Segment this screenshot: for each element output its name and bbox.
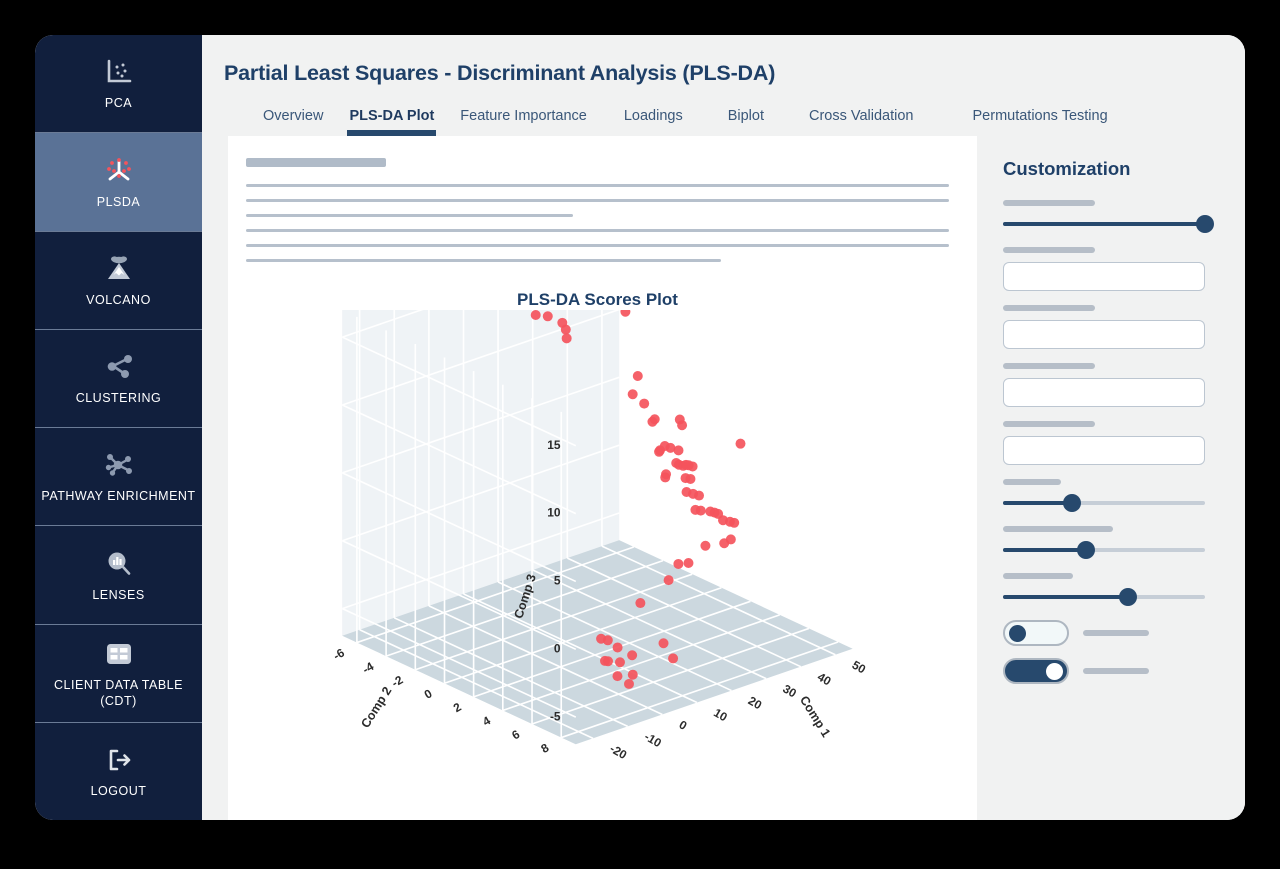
tab-biplot[interactable]: Biplot xyxy=(696,108,777,136)
control-label-skeleton xyxy=(1003,305,1095,311)
svg-text:-20: -20 xyxy=(607,741,629,762)
toggle-switch-1[interactable] xyxy=(1003,620,1069,646)
slider-fill xyxy=(1003,595,1128,599)
slider-4[interactable] xyxy=(1003,588,1205,606)
sidebar-item-plsda[interactable]: PLSDA xyxy=(35,133,202,231)
svg-text:10: 10 xyxy=(711,705,730,724)
slider-thumb[interactable] xyxy=(1077,541,1095,559)
sidebar-item-clustering[interactable]: CLUSTERING xyxy=(35,330,202,428)
svg-text:-6: -6 xyxy=(331,645,348,663)
toggle-row-2 xyxy=(1003,658,1205,684)
svg-text:2: 2 xyxy=(451,699,464,715)
toggle-switch-2[interactable] xyxy=(1003,658,1069,684)
skeleton-line xyxy=(246,244,949,247)
text-input-1[interactable] xyxy=(1003,262,1205,291)
customization-panel: Customization xyxy=(977,136,1245,820)
control-group-textbox-3 xyxy=(1003,363,1205,407)
main-area: Partial Least Squares - Discriminant Ana… xyxy=(202,35,1245,820)
tab-pls-da-plot[interactable]: PLS-DA Plot xyxy=(336,108,447,136)
svg-text:-5: -5 xyxy=(550,709,561,723)
control-label-skeleton xyxy=(1003,479,1061,485)
svg-text:0: 0 xyxy=(422,686,435,702)
sidebar-item-label: PCA xyxy=(105,96,132,112)
svg-text:0: 0 xyxy=(677,717,690,733)
svg-text:0: 0 xyxy=(554,641,561,655)
customization-title: Customization xyxy=(1003,158,1205,180)
tab-feature-importance[interactable]: Feature Importance xyxy=(447,108,600,136)
svg-text:-10: -10 xyxy=(642,729,664,750)
toggle-knob xyxy=(1009,625,1026,642)
sidebar-item-lenses[interactable]: LENSES xyxy=(35,526,202,624)
svg-text:30: 30 xyxy=(780,681,799,700)
sidebar-item-pathway-enrichment[interactable]: PATHWAY ENRICHMENT xyxy=(35,428,202,526)
logout-arrow-icon xyxy=(102,743,136,777)
skeleton-line xyxy=(246,199,949,202)
control-label-skeleton xyxy=(1003,573,1073,579)
plot-canvas[interactable]: -5051015-6-4-202468-20-1001020304050Comp… xyxy=(246,310,949,820)
skeleton-line xyxy=(246,184,949,187)
table-grid-icon xyxy=(102,637,136,671)
scores-plot-3d[interactable]: -5051015-6-4-202468-20-1001020304050Comp… xyxy=(246,310,949,820)
tab-loadings[interactable]: Loadings xyxy=(600,108,696,136)
tab-overview[interactable]: Overview xyxy=(250,108,336,136)
sidebar-item-label: CLIENT DATA TABLE (CDT) xyxy=(41,678,196,709)
toggle-label-skeleton xyxy=(1083,668,1149,674)
plot-panel: PLS-DA Scores Plot -5051015-6-4-202468-2… xyxy=(228,136,977,820)
control-group-textbox-1 xyxy=(1003,247,1205,291)
svg-text:Comp 1: Comp 1 xyxy=(797,693,833,739)
sidebar-item-label: CLUSTERING xyxy=(76,391,162,407)
svg-text:4: 4 xyxy=(480,713,493,729)
skeleton-line xyxy=(246,259,721,262)
svg-text:8: 8 xyxy=(539,740,552,756)
sidebar-item-label: PLSDA xyxy=(97,195,141,211)
sidebar-item-label: VOLCANO xyxy=(86,293,151,309)
plot-title: PLS-DA Scores Plot xyxy=(246,290,949,310)
skeleton-line xyxy=(246,214,573,217)
control-label-skeleton xyxy=(1003,247,1095,253)
magnifier-bars-icon xyxy=(102,547,136,581)
scatter-axes-icon xyxy=(102,55,136,89)
tab-bar: Overview PLS-DA Plot Feature Importance … xyxy=(224,102,1245,136)
toggle-row-1 xyxy=(1003,620,1205,646)
svg-text:50: 50 xyxy=(850,657,869,676)
slider-3[interactable] xyxy=(1003,541,1205,559)
slider-fill xyxy=(1003,501,1072,505)
svg-text:20: 20 xyxy=(746,693,765,712)
text-input-4[interactable] xyxy=(1003,436,1205,465)
page-title: Partial Least Squares - Discriminant Ana… xyxy=(224,61,1245,86)
toggle-knob xyxy=(1046,663,1063,680)
svg-text:Comp 2: Comp 2 xyxy=(358,684,394,730)
svg-text:6: 6 xyxy=(509,727,522,743)
slider-1[interactable] xyxy=(1003,215,1205,233)
slider-thumb[interactable] xyxy=(1119,588,1137,606)
slider-thumb[interactable] xyxy=(1196,215,1214,233)
control-label-skeleton xyxy=(1003,363,1095,369)
control-group-slider-3 xyxy=(1003,526,1205,559)
control-group-slider-2 xyxy=(1003,479,1205,512)
control-label-skeleton xyxy=(1003,421,1095,427)
app-window: PCA PLSDA xyxy=(35,35,1245,820)
slider-thumb[interactable] xyxy=(1063,494,1081,512)
molecule-hub-icon xyxy=(102,448,136,482)
slider-fill xyxy=(1003,548,1086,552)
sidebar-item-label: LOGOUT xyxy=(91,784,147,800)
sidebar-item-logout[interactable]: LOGOUT xyxy=(35,723,202,820)
sidebar-item-label: PATHWAY ENRICHMENT xyxy=(41,489,195,505)
text-input-3[interactable] xyxy=(1003,378,1205,407)
control-group-slider-1 xyxy=(1003,200,1205,233)
svg-text:-2: -2 xyxy=(389,672,406,690)
content-wrap: PLS-DA Scores Plot -5051015-6-4-202468-2… xyxy=(202,136,1245,820)
sidebar-item-pca[interactable]: PCA xyxy=(35,35,202,133)
text-input-2[interactable] xyxy=(1003,320,1205,349)
svg-text:10: 10 xyxy=(547,505,561,519)
sidebar-item-client-data-table[interactable]: CLIENT DATA TABLE (CDT) xyxy=(35,625,202,723)
skeleton-heading xyxy=(246,158,386,167)
svg-text:-4: -4 xyxy=(360,659,377,677)
sidebar-item-label: LENSES xyxy=(92,588,144,604)
three-axis-star-icon xyxy=(102,154,136,188)
svg-text:40: 40 xyxy=(815,669,834,688)
svg-text:15: 15 xyxy=(547,438,561,452)
network-nodes-icon xyxy=(102,350,136,384)
toggle-label-skeleton xyxy=(1083,630,1149,636)
header: Partial Least Squares - Discriminant Ana… xyxy=(202,35,1245,136)
tab-permutations-testing[interactable]: Permutations Testing xyxy=(927,108,1121,136)
sidebar: PCA PLSDA xyxy=(35,35,202,820)
control-group-slider-4 xyxy=(1003,573,1205,606)
slider-2[interactable] xyxy=(1003,494,1205,512)
skeleton-line xyxy=(246,229,949,232)
control-label-skeleton xyxy=(1003,526,1113,532)
svg-text:5: 5 xyxy=(554,573,561,587)
sidebar-item-volcano[interactable]: VOLCANO xyxy=(35,232,202,330)
control-label-skeleton xyxy=(1003,200,1095,206)
slider-fill xyxy=(1003,222,1205,226)
tab-cross-validation[interactable]: Cross Validation xyxy=(777,108,927,136)
control-group-textbox-4 xyxy=(1003,421,1205,465)
volcano-icon xyxy=(102,252,136,286)
control-group-textbox-2 xyxy=(1003,305,1205,349)
